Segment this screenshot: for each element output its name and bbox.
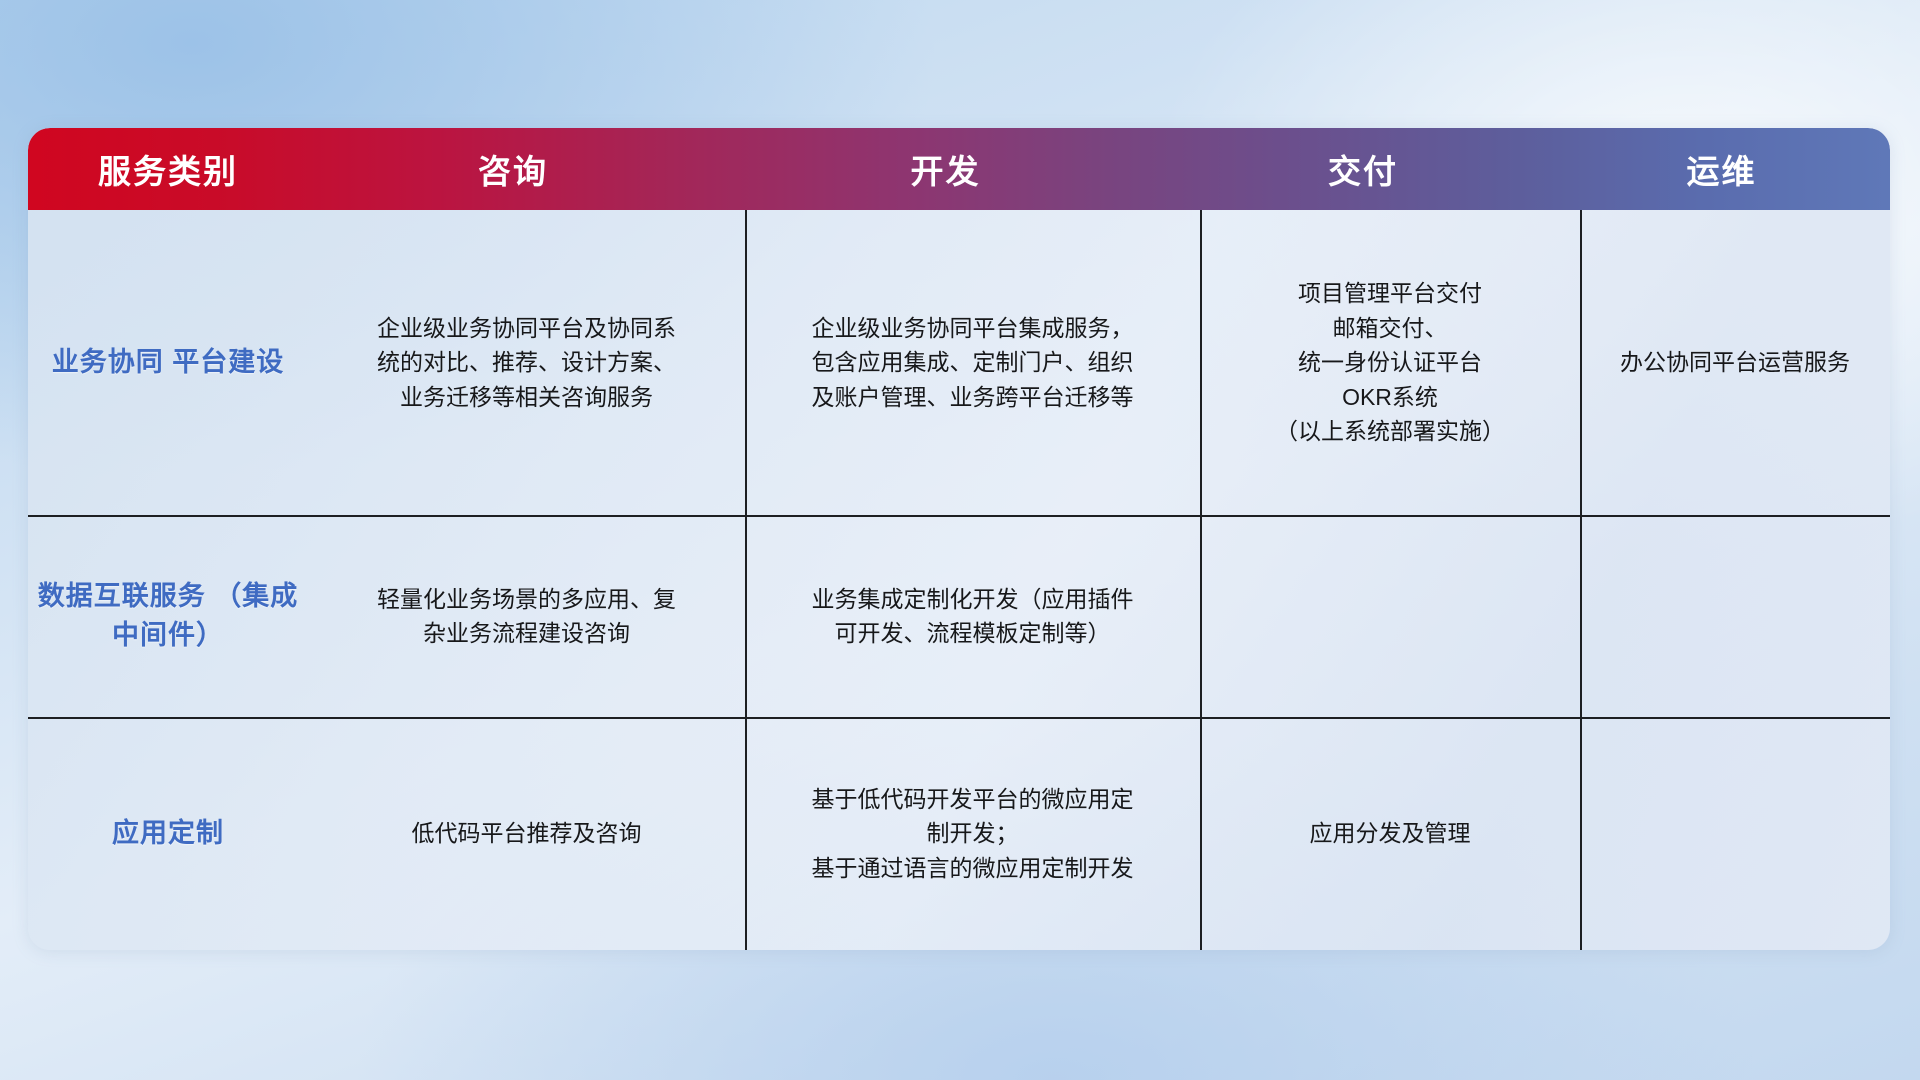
row-delivery-cell <box>1200 515 1580 717</box>
row-divider-2 <box>28 717 1890 719</box>
row-development-cell: 基于低代码开发平台的微应用定 制开发； 基于通过语言的微应用定制开发 <box>745 717 1200 950</box>
row-category-cell: 应用定制 <box>28 717 308 950</box>
row-operations-cell <box>1580 717 1890 950</box>
row-development-cell: 业务集成定制化开发（应用插件 可开发、流程模板定制等） <box>745 515 1200 717</box>
row-category-cell: 数据互联服务 （集成中间件） <box>28 515 308 717</box>
column-header-consulting: 咨询 <box>308 145 718 193</box>
row-category-label: 数据互联服务 （集成中间件） <box>28 577 308 655</box>
column-header-development: 开发 <box>718 145 1173 193</box>
row-development-text: 企业级业务协同平台集成服务， 包含应用集成、定制门户、组织 及账户管理、业务跨平… <box>798 311 1148 415</box>
row-consulting-text: 轻量化业务场景的多应用、复 杂业务流程建设咨询 <box>363 582 690 651</box>
row-consulting-text: 低代码平台推荐及咨询 <box>398 816 656 851</box>
table-row: 业务协同 平台建设 企业级业务协同平台及协同系 统的对比、推荐、设计方案、 业务… <box>28 210 1890 515</box>
table-body: 业务协同 平台建设 企业级业务协同平台及协同系 统的对比、推荐、设计方案、 业务… <box>28 210 1890 950</box>
page-canvas: 服务类别 咨询 开发 交付 运维 业务协同 平台建设 企业级业务协同平台及协同系… <box>0 0 1920 1080</box>
column-header-service-category: 服务类别 <box>28 145 308 193</box>
row-consulting-cell: 轻量化业务场景的多应用、复 杂业务流程建设咨询 <box>308 515 745 717</box>
row-delivery-text: 应用分发及管理 <box>1296 816 1485 851</box>
column-header-operations: 运维 <box>1553 145 1890 193</box>
row-delivery-cell: 应用分发及管理 <box>1200 717 1580 950</box>
row-development-text: 业务集成定制化开发（应用插件 可开发、流程模板定制等） <box>798 582 1148 651</box>
row-consulting-cell: 企业级业务协同平台及协同系 统的对比、推荐、设计方案、 业务迁移等相关咨询服务 <box>308 210 745 515</box>
row-operations-cell: 办公协同平台运营服务 <box>1580 210 1890 515</box>
row-development-text: 基于低代码开发平台的微应用定 制开发； 基于通过语言的微应用定制开发 <box>798 782 1148 886</box>
row-delivery-cell: 项目管理平台交付 邮箱交付、 统一身份认证平台 OKR系统 （以上系统部署实施） <box>1200 210 1580 515</box>
row-category-label: 应用定制 <box>112 814 224 853</box>
row-consulting-text: 企业级业务协同平台及协同系 统的对比、推荐、设计方案、 业务迁移等相关咨询服务 <box>363 311 690 415</box>
row-category-label: 业务协同 平台建设 <box>52 343 285 382</box>
row-category-cell: 业务协同 平台建设 <box>28 210 308 515</box>
row-divider-1 <box>28 515 1890 517</box>
row-delivery-text: 项目管理平台交付 邮箱交付、 统一身份认证平台 OKR系统 （以上系统部署实施） <box>1261 276 1519 449</box>
column-divider-consulting-development <box>745 210 747 950</box>
row-consulting-cell: 低代码平台推荐及咨询 <box>308 717 745 950</box>
row-operations-text: 办公协同平台运营服务 <box>1606 345 1864 380</box>
column-divider-delivery-operations <box>1580 210 1582 950</box>
row-development-cell: 企业级业务协同平台集成服务， 包含应用集成、定制门户、组织 及账户管理、业务跨平… <box>745 210 1200 515</box>
row-operations-cell <box>1580 515 1890 717</box>
column-header-delivery: 交付 <box>1173 145 1553 193</box>
column-divider-development-delivery <box>1200 210 1202 950</box>
table-row: 应用定制 低代码平台推荐及咨询 基于低代码开发平台的微应用定 制开发； 基于通过… <box>28 717 1890 950</box>
service-matrix-table: 服务类别 咨询 开发 交付 运维 业务协同 平台建设 企业级业务协同平台及协同系… <box>28 128 1890 950</box>
table-row: 数据互联服务 （集成中间件） 轻量化业务场景的多应用、复 杂业务流程建设咨询 业… <box>28 515 1890 717</box>
table-header-row: 服务类别 咨询 开发 交付 运维 <box>28 128 1890 210</box>
